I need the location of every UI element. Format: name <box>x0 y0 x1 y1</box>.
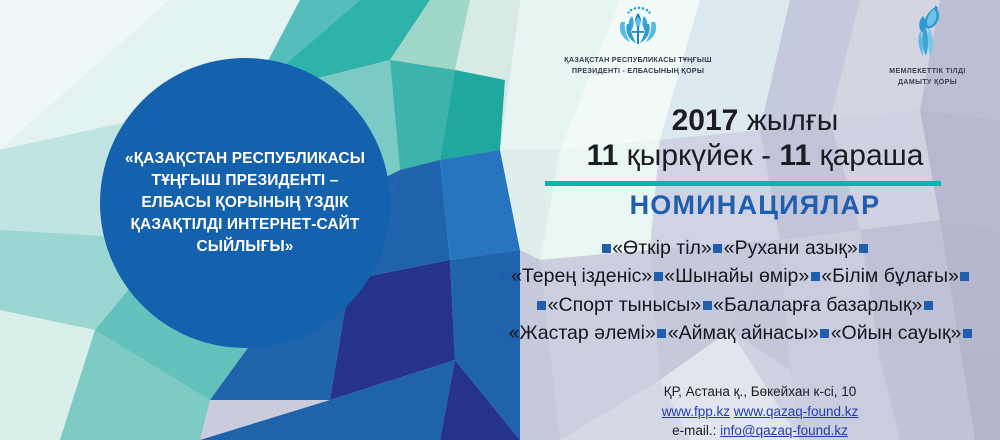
feather-quill-logo-icon <box>905 4 951 60</box>
nomination-item: «Жастар әлемі» <box>509 324 656 344</box>
event-year-number: 2017 <box>672 104 739 137</box>
square-bullet-icon <box>654 272 663 281</box>
square-bullet-icon <box>602 244 611 253</box>
nomination-item: «Балаларға базарлық» <box>713 296 922 316</box>
event-dates: 2017 жылғы 11 қыркүйек - 11 қараша <box>520 104 990 173</box>
square-bullet-icon <box>963 329 972 338</box>
state-language-fund-caption: МЕМЛЕКЕТТІК ТІЛДІ ДАМЫТУ ҚОРЫ <box>855 67 1000 88</box>
fund-first-president-caption: ҚАЗАҚСТАН РЕСПУБЛИКАСЫ ТҰҢҒЫШ ПРЕЗИДЕНТІ… <box>508 55 768 77</box>
award-title-circle: «ҚАЗАҚСТАН РЕСПУБЛИКАСЫТҰҢҒЫШ ПРЕЗИДЕНТІ… <box>100 58 390 348</box>
range-end-day: 11 <box>779 139 811 172</box>
event-year-line: 2017 жылғы <box>520 104 990 138</box>
range-dash: - <box>761 139 771 172</box>
footer-address: ҚР, Астана қ., Бөкейхан к-сі, 10 <box>530 382 990 402</box>
logo-caption-line: МЕМЛЕКЕТТІК ТІЛДІ <box>855 67 1000 78</box>
award-title-line: ТҰҢҒЫШ ПРЕЗИДЕНТІ – <box>110 170 380 192</box>
promo-banner: «ҚАЗАҚСТАН РЕСПУБЛИКАСЫТҰҢҒЫШ ПРЕЗИДЕНТІ… <box>0 0 1000 440</box>
nomination-item: «Білім бұлағы» <box>821 267 959 287</box>
nomination-item: «Спорт тынысы» <box>548 296 701 316</box>
square-bullet-icon <box>960 272 969 281</box>
square-bullet-icon <box>657 329 666 338</box>
nominations-heading: НОМИНАЦИЯЛАР <box>520 190 990 221</box>
nomination-item: «Шынайы өмір» <box>664 267 809 287</box>
nomination-item: «Терең ізденіс» <box>511 267 652 287</box>
email-link[interactable]: info@qazaq-found.kz <box>720 423 848 438</box>
logo-caption-line: ПРЕЗИДЕНТІ - ЕЛБАСЫНЫҢ ҚОРЫ <box>508 66 768 77</box>
range-start-day: 11 <box>587 139 619 172</box>
square-bullet-icon <box>924 301 933 310</box>
website-link-fpp[interactable]: www.fpp.kz <box>662 404 730 419</box>
award-title-line: ЕЛБАСЫ ҚОРЫНЫҢ ҮЗДІК <box>110 192 380 214</box>
footer-email-row: e-mail.: info@qazaq-found.kz <box>672 421 848 440</box>
range-start-month: қыркүйек <box>627 139 753 172</box>
section-divider-rule <box>545 181 941 186</box>
square-bullet-icon <box>811 272 820 281</box>
hands-lotus-logo-icon <box>611 4 665 48</box>
nomination-row: «Өткір тіл»«Рухани азық» <box>470 234 1000 263</box>
square-bullet-icon <box>713 244 722 253</box>
nomination-row: «Жастар әлемі»«Аймақ айнасы»«Ойын сауық» <box>470 320 1000 349</box>
award-title-line: «ҚАЗАҚСТАН РЕСПУБЛИКАСЫ <box>110 148 380 170</box>
logo-caption-line: ҚАЗАҚСТАН РЕСПУБЛИКАСЫ ТҰҢҒЫШ <box>508 55 768 66</box>
state-language-fund-logo: МЕМЛЕКЕТТІК ТІЛДІ ДАМЫТУ ҚОРЫ <box>855 4 1000 88</box>
square-bullet-icon <box>537 301 546 310</box>
nomination-row: «Спорт тынысы»«Балаларға базарлық» <box>470 291 1000 320</box>
nomination-item: «Аймақ айнасы» <box>668 324 819 344</box>
square-bullet-icon <box>703 301 712 310</box>
nomination-item: «Ойын сауық» <box>831 324 962 344</box>
square-bullet-icon <box>859 244 868 253</box>
square-bullet-icon <box>820 329 829 338</box>
nominations-list: «Өткір тіл»«Рухани азық»«Терең ізденіс»«… <box>470 234 1000 348</box>
range-end-month: қараша <box>819 139 923 172</box>
award-title-line: СЫЙЛЫҒЫ» <box>110 236 380 258</box>
nomination-row: «Терең ізденіс»«Шынайы өмір»«Білім бұлағ… <box>470 263 1000 292</box>
footer-links: www.fpp.kz www.qazaq-found.kz <box>530 402 990 422</box>
nomination-item: «Рухани азық» <box>724 239 858 259</box>
logo-caption-line: ДАМЫТУ ҚОРЫ <box>855 78 1000 89</box>
footer-contact: ҚР, Астана қ., Бөкейхан к-сі, 10 www.fpp… <box>530 382 990 440</box>
event-date-range: 11 қыркүйек - 11 қараша <box>520 138 990 173</box>
square-bullet-icon <box>498 329 507 338</box>
event-year-word: жылғы <box>747 104 839 137</box>
award-title-line: ҚАЗАҚТІЛДІ ИНТЕРНЕТ-САЙТ <box>110 214 380 236</box>
award-title-text: «ҚАЗАҚСТАН РЕСПУБЛИКАСЫТҰҢҒЫШ ПРЕЗИДЕНТІ… <box>110 148 380 258</box>
square-bullet-icon <box>501 272 510 281</box>
fund-first-president-logo: ҚАЗАҚСТАН РЕСПУБЛИКАСЫ ТҰҢҒЫШ ПРЕЗИДЕНТІ… <box>508 4 768 77</box>
email-label: e-mail.: <box>672 423 716 438</box>
website-link-qazaq-found[interactable]: www.qazaq-found.kz <box>734 404 859 419</box>
nomination-item: «Өткір тіл» <box>612 239 712 259</box>
